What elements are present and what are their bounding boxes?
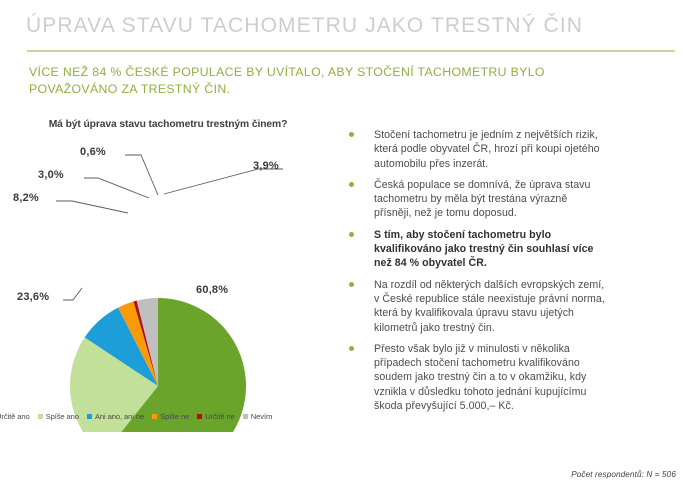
legend-item[interactable]: Určitě ne bbox=[197, 412, 235, 421]
legend-item[interactable]: Nevím bbox=[243, 412, 272, 421]
legend-item[interactable]: Spíše ano bbox=[38, 412, 79, 421]
bullet-text: Na rozdíl od některých dalších evropskýc… bbox=[374, 278, 683, 335]
page-subtitle: VÍCE NEŽ 84 % ČESKÉ POPULACE BY UVÍTALO,… bbox=[29, 64, 679, 98]
pie-chart-svg bbox=[0, 112, 336, 432]
legend-label: Ani ano, ani ne bbox=[95, 412, 144, 421]
bullet-item: Na rozdíl od některých dalších evropskýc… bbox=[341, 278, 683, 335]
subtitle-line-2: POVAŽOVÁNO ZA TRESTNÝ ČIN. bbox=[29, 81, 679, 98]
legend-label: Spíše ne bbox=[160, 412, 189, 421]
leader-line-urcite-ne bbox=[125, 155, 158, 195]
legend-item[interactable]: Určitě ano bbox=[0, 412, 30, 421]
bullet-text: S tím, aby stočení tachometru bylo kvali… bbox=[374, 228, 683, 271]
pie-label-nevim: 3,9% bbox=[253, 160, 279, 172]
pie-label-spise-ano: 23,6% bbox=[17, 291, 49, 303]
bullet-text: Stočení tachometru je jedním z největšíc… bbox=[374, 128, 683, 171]
bullet-item: Stočení tachometru je jedním z největšíc… bbox=[341, 128, 683, 171]
leader-line-spise-ano bbox=[63, 288, 82, 300]
respondents-footnote: Počet respondentů: N = 506 bbox=[0, 470, 676, 479]
bullet-item: Česká populace se domnívá, že úprava sta… bbox=[341, 178, 683, 221]
bullet-dot-icon bbox=[349, 232, 354, 237]
chart-legend: Určitě anoSpíše anoAni ano, ani neSpíše … bbox=[0, 409, 340, 423]
header-divider bbox=[27, 50, 675, 52]
pie-chart: Má být úprava stavu tachometru trestným … bbox=[0, 112, 336, 432]
legend-swatch-icon bbox=[243, 414, 248, 419]
pie-label-spise-ne: 3,0% bbox=[38, 169, 64, 181]
bullet-item: Přesto však bylo již v minulosti v někol… bbox=[341, 342, 683, 413]
leader-lines bbox=[56, 155, 283, 300]
legend-label: Určitě ano bbox=[0, 412, 30, 421]
legend-label: Spíše ano bbox=[46, 412, 79, 421]
bullet-text: Přesto však bylo již v minulosti v někol… bbox=[374, 342, 683, 413]
legend-label: Určitě ne bbox=[205, 412, 235, 421]
subtitle-line-1: VÍCE NEŽ 84 % ČESKÉ POPULACE BY UVÍTALO,… bbox=[29, 65, 545, 79]
legend-swatch-icon bbox=[38, 414, 43, 419]
pie-label-urcite-ne: 0,6% bbox=[80, 146, 106, 158]
bullet-dot-icon bbox=[349, 182, 354, 187]
leader-line-spise-ne bbox=[84, 178, 149, 198]
legend-swatch-icon bbox=[197, 414, 202, 419]
legend-label: Nevím bbox=[251, 412, 272, 421]
bullet-dot-icon bbox=[349, 132, 354, 137]
bullet-item: S tím, aby stočení tachometru bylo kvali… bbox=[341, 228, 683, 271]
legend-swatch-icon bbox=[152, 414, 157, 419]
leader-line-ani-ano-ani-ne bbox=[56, 201, 128, 213]
bullet-dot-icon bbox=[349, 346, 354, 351]
leader-line-nevim bbox=[164, 169, 283, 194]
bullet-text: Česká populace se domnívá, že úprava sta… bbox=[374, 178, 683, 221]
legend-swatch-icon bbox=[87, 414, 92, 419]
pie-label-urcite-ano: 60,8% bbox=[196, 284, 228, 296]
bullet-list: Stočení tachometru je jedním z největšíc… bbox=[341, 128, 683, 458]
bullet-dot-icon bbox=[349, 282, 354, 287]
slide-root: ÚPRAVA STAVU TACHOMETRU JAKO TRESTNÝ ČIN… bbox=[0, 0, 683, 494]
page-title: ÚPRAVA STAVU TACHOMETRU JAKO TRESTNÝ ČIN bbox=[26, 14, 583, 38]
legend-item[interactable]: Spíše ne bbox=[152, 412, 189, 421]
pie-label-ani-ano-ani-ne: 8,2% bbox=[13, 192, 39, 204]
legend-item[interactable]: Ani ano, ani ne bbox=[87, 412, 144, 421]
